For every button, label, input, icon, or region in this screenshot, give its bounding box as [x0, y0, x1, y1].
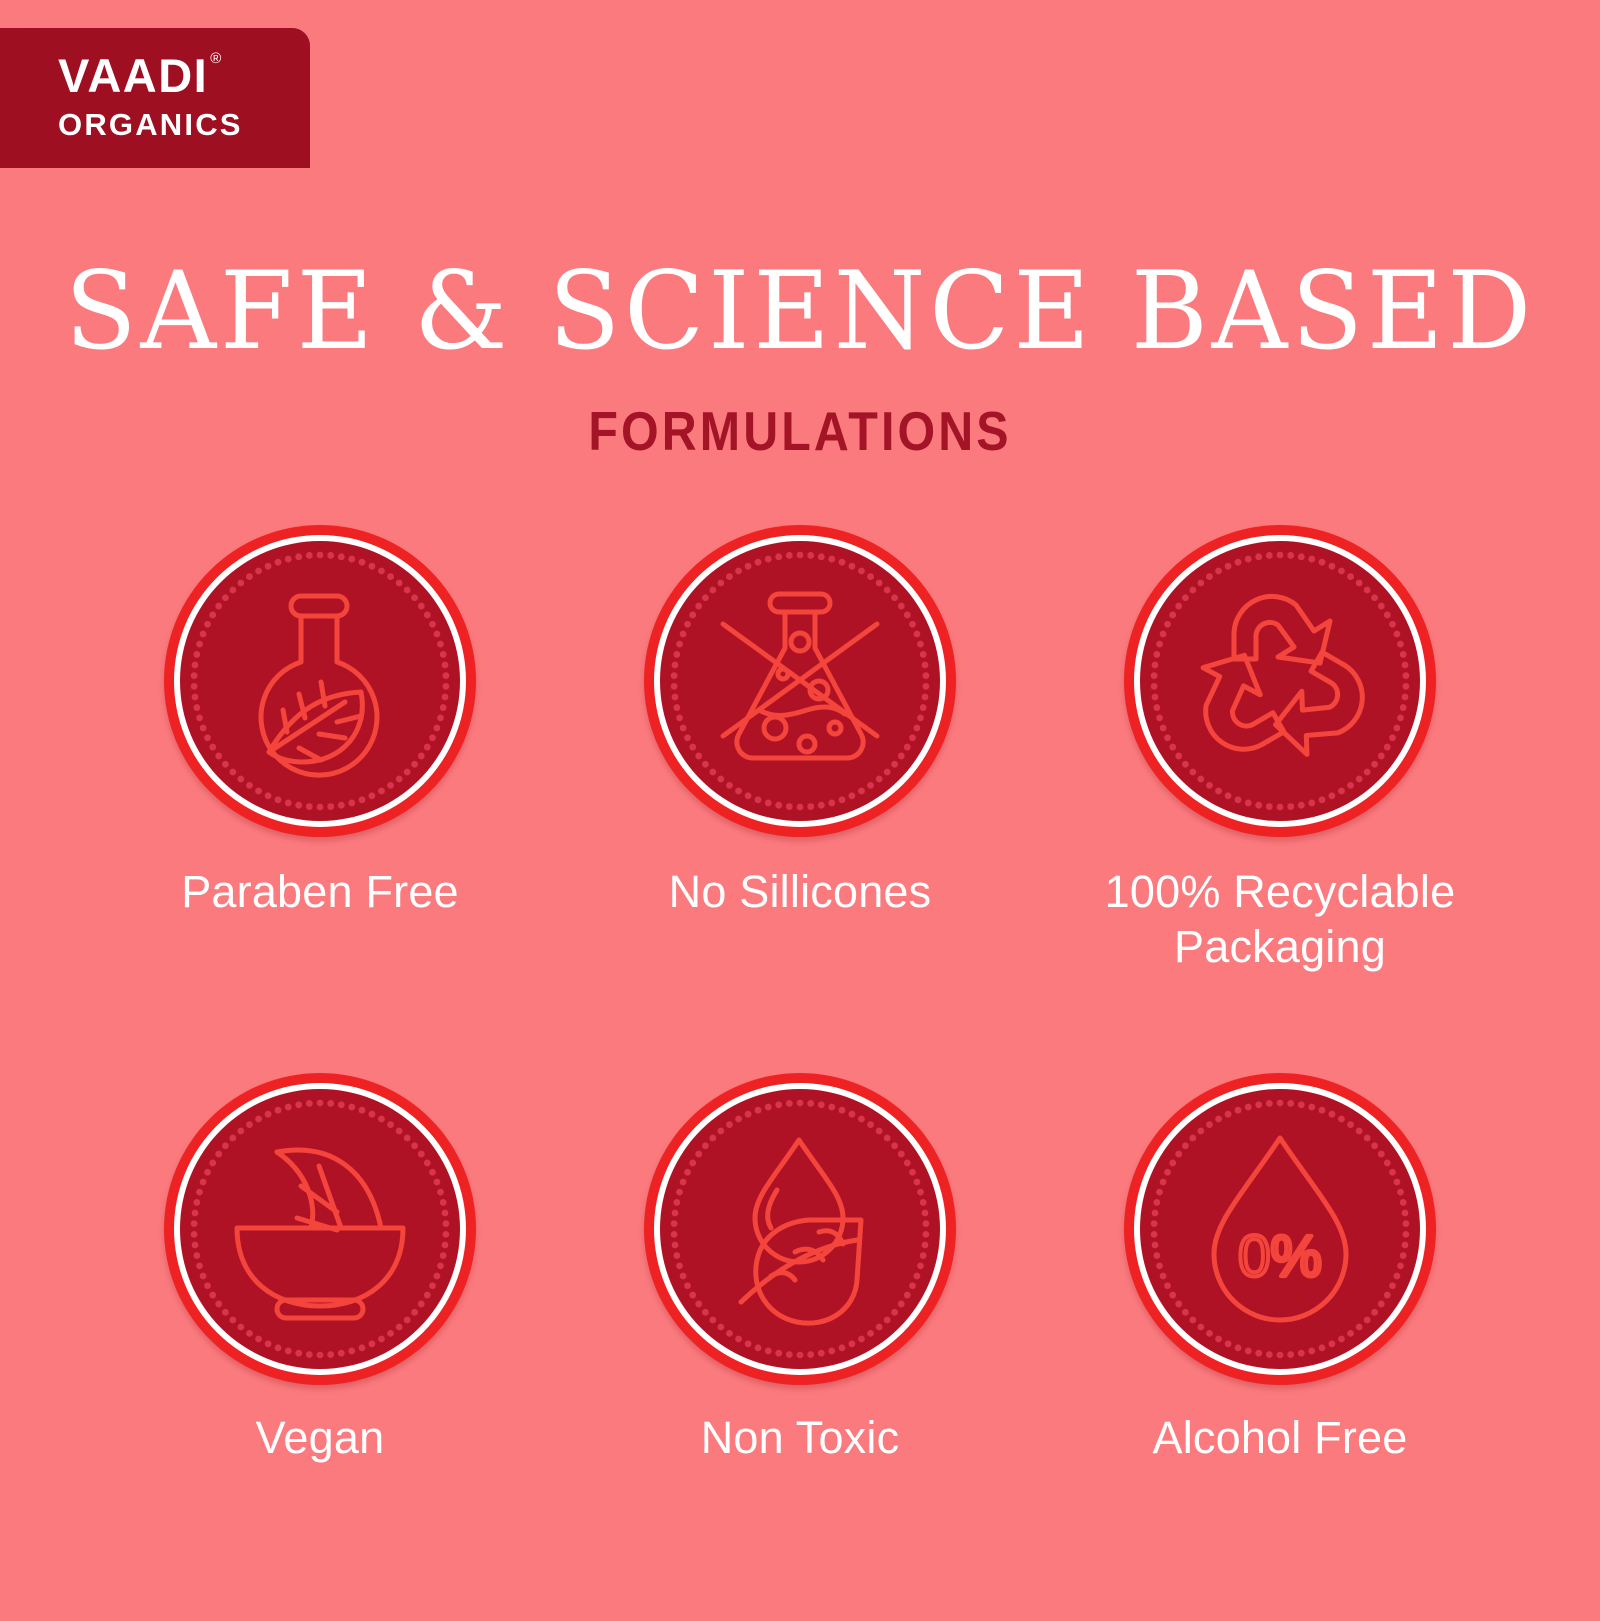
badge-inner-disc: 0%	[1140, 1089, 1420, 1369]
badge-vegan	[164, 1073, 476, 1385]
feature-item-non-toxic: Non Toxic	[560, 1073, 1040, 1621]
feature-item-recyclable-packaging: 100% Recyclable Packaging	[1040, 525, 1520, 1073]
feature-item-vegan: Vegan	[80, 1073, 560, 1621]
badge-label: No Sillicones	[669, 865, 932, 920]
badge-inner-disc	[180, 1089, 460, 1369]
badge-label: Non Toxic	[701, 1411, 900, 1466]
water-drop-on-leaf-icon	[695, 1124, 905, 1334]
logo-brand-name-text: VAADI	[58, 49, 208, 102]
recycling-arrows-icon	[1175, 576, 1385, 786]
mortar-bowl-with-leaf-icon	[215, 1124, 425, 1334]
feature-item-alcohol-free: 0% Alcohol Free	[1040, 1073, 1520, 1621]
zero-percent-label: 0%	[1238, 1224, 1322, 1289]
badge-no-sillicones	[644, 525, 956, 837]
page-subtitle: FORMULATIONS	[96, 404, 1504, 459]
badge-alcohol-free: 0%	[1124, 1073, 1436, 1385]
badge-recyclable-packaging	[1124, 525, 1436, 837]
badge-label: Paraben Free	[181, 865, 459, 920]
water-drop-zero-percent-icon: 0%	[1175, 1124, 1385, 1334]
crossed-out-conical-flask-icon	[695, 576, 905, 786]
feature-item-paraben-free: Paraben Free	[80, 525, 560, 1073]
registered-trademark-icon: ®	[210, 50, 223, 67]
badge-inner-disc	[1140, 541, 1420, 821]
page-title: SAFE & SCIENCE BASED	[24, 258, 1576, 366]
badge-label: Alcohol Free	[1152, 1411, 1407, 1466]
badge-inner-disc	[660, 541, 940, 821]
badge-inner-disc	[180, 541, 460, 821]
logo-brand-subtitle: ORGANICS	[58, 109, 298, 140]
feature-badge-grid: Paraben Free	[80, 525, 1520, 1621]
badge-non-toxic	[644, 1073, 956, 1385]
badge-label: 100% Recyclable Packaging	[1080, 865, 1480, 975]
badge-inner-disc	[660, 1089, 940, 1369]
logo-text-block: VAADI® ORGANICS	[58, 52, 298, 140]
feature-item-no-sillicones: No Sillicones	[560, 525, 1040, 1073]
badge-label: Vegan	[256, 1411, 385, 1466]
flask-with-leaf-icon	[215, 576, 425, 786]
badge-paraben-free	[164, 525, 476, 837]
brand-logo: VAADI® ORGANICS	[0, 28, 310, 168]
logo-brand-name: VAADI®	[58, 52, 221, 99]
